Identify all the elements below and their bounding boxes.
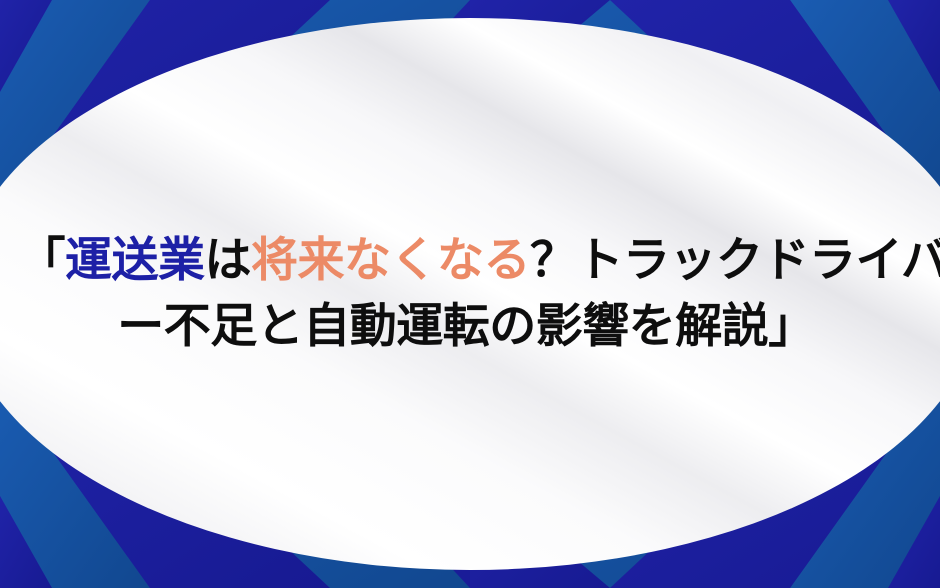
banner-canvas: 「運送業は将来なくなる？トラックドライバ ー不足と自動運転の影響を解説」 — [0, 0, 940, 588]
pearl-ellipse — [0, 0, 940, 588]
ellipse-shape — [0, 18, 940, 570]
